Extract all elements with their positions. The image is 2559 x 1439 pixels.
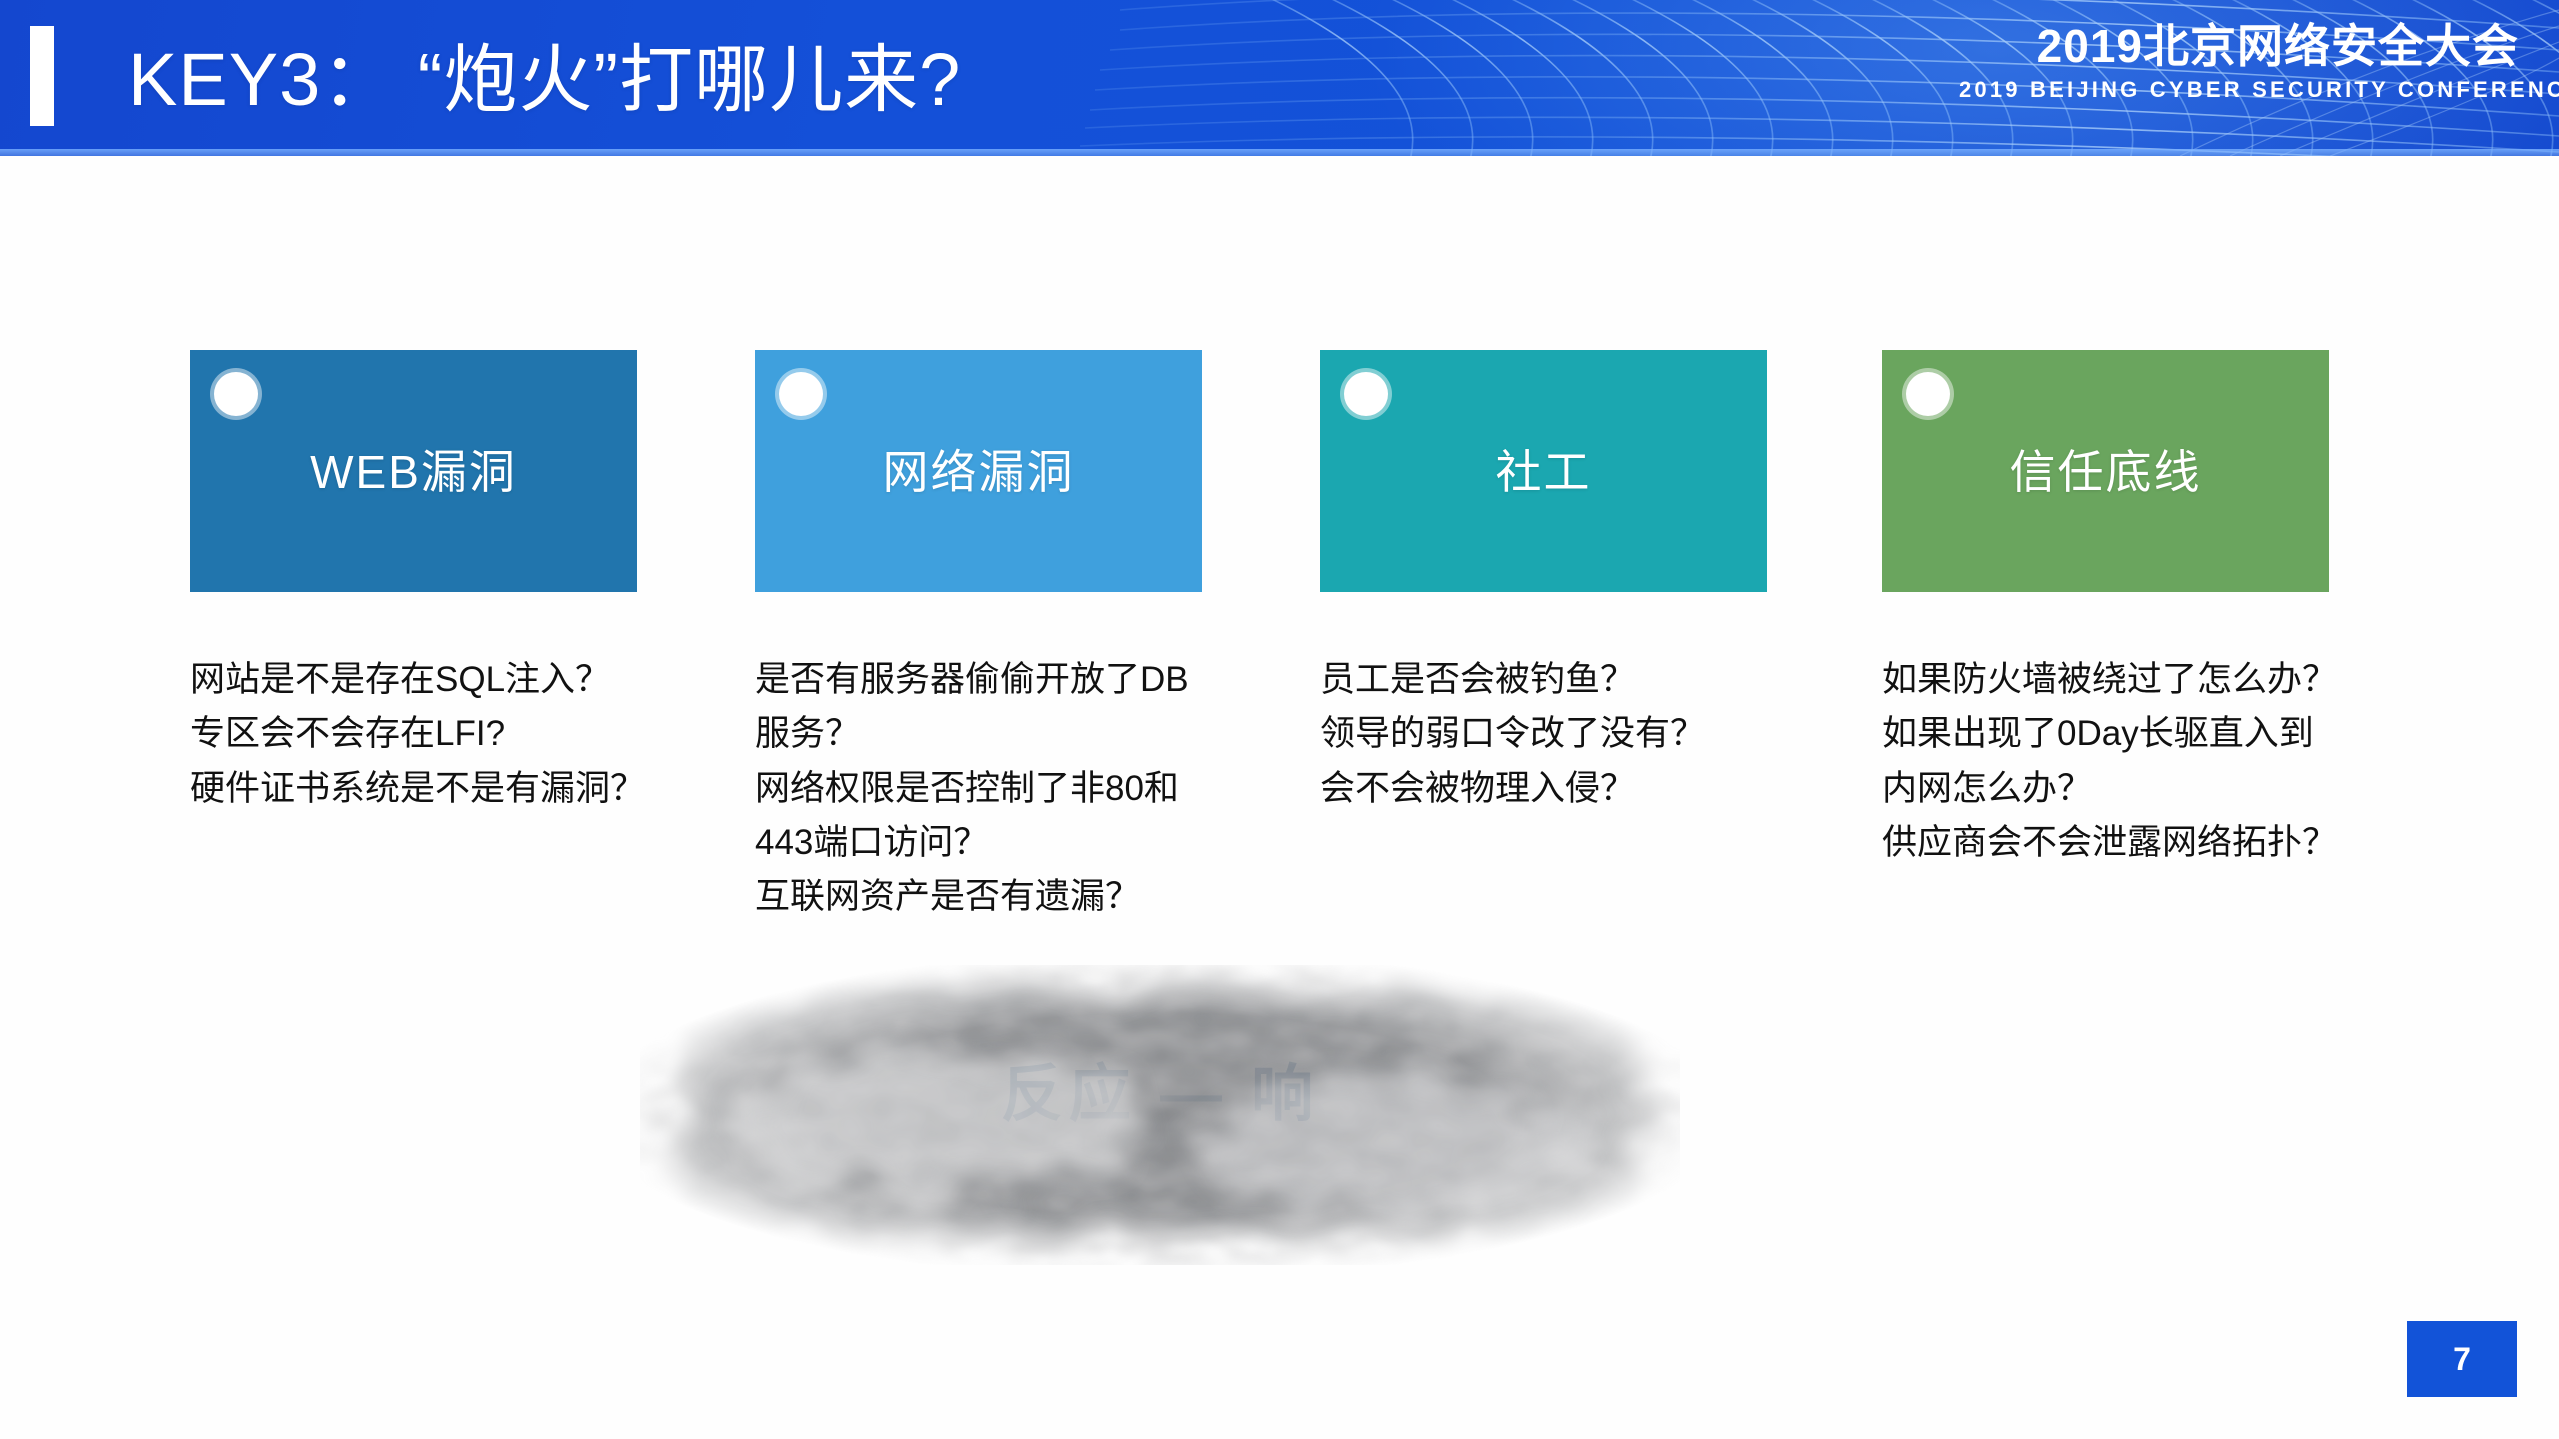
- category-card-social-engineering[interactable]: 社工: [1320, 350, 1767, 592]
- detail-column-network: 是否有服务器偷偷开放了DB服务？ 网络权限是否控制了非80和443端口访问？ 互…: [755, 653, 1215, 924]
- white-circle-marker-icon: [1344, 372, 1388, 416]
- redacted-region: 反应 — 响: [640, 965, 1680, 1265]
- category-card-trust-baseline[interactable]: 信任底线: [1882, 350, 2329, 592]
- category-card-label: 信任底线: [1882, 436, 2329, 502]
- page-title: KEY3： “炮火”打哪儿来?: [128, 12, 961, 134]
- category-card-label: 社工: [1320, 436, 1767, 502]
- category-card-row: WEB漏洞 网络漏洞 社工 信任底线: [190, 350, 2326, 592]
- brand-title-en: 2019 BEIJING CYBER SECURITY CONFERENCE: [1959, 77, 2519, 103]
- category-card-label: 网络漏洞: [755, 436, 1202, 502]
- page-number: 7: [2453, 1341, 2471, 1378]
- brand-title-cn: 2019北京网络安全大会: [1959, 20, 2519, 73]
- detail-column-social-engineering: 员工是否会被钓鱼？ 领导的弱口令改了没有？ 会不会被物理入侵？: [1320, 653, 1800, 816]
- conference-brand: 2019北京网络安全大会 2019 BEIJING CYBER SECURITY…: [1959, 20, 2519, 103]
- detail-column-trust-baseline: 如果防火墙被绕过了怎么办？ 如果出现了0Day长驱直入到内网怎么办？ 供应商会不…: [1882, 653, 2342, 870]
- category-card-label: WEB漏洞: [190, 436, 637, 502]
- category-card-network[interactable]: 网络漏洞: [755, 350, 1202, 592]
- white-circle-marker-icon: [1906, 372, 1950, 416]
- detail-column-web: 网站是不是存在SQL注入？ 专区会不会存在LFI? 硬件证书系统是不是有漏洞？: [190, 653, 650, 816]
- slide: KEY3： “炮火”打哪儿来? 2019北京网络安全大会 2019 BEIJIN…: [0, 0, 2559, 1439]
- page-number-badge: 7: [2407, 1321, 2517, 1397]
- header-bottom-glow: [0, 149, 2559, 156]
- category-card-web[interactable]: WEB漏洞: [190, 350, 637, 592]
- slide-header: KEY3： “炮火”打哪儿来? 2019北京网络安全大会 2019 BEIJIN…: [0, 0, 2559, 156]
- white-circle-marker-icon: [779, 372, 823, 416]
- obscured-text: 反应 — 响: [640, 1043, 1680, 1133]
- white-circle-marker-icon: [214, 372, 258, 416]
- title-accent-bar: [30, 26, 54, 126]
